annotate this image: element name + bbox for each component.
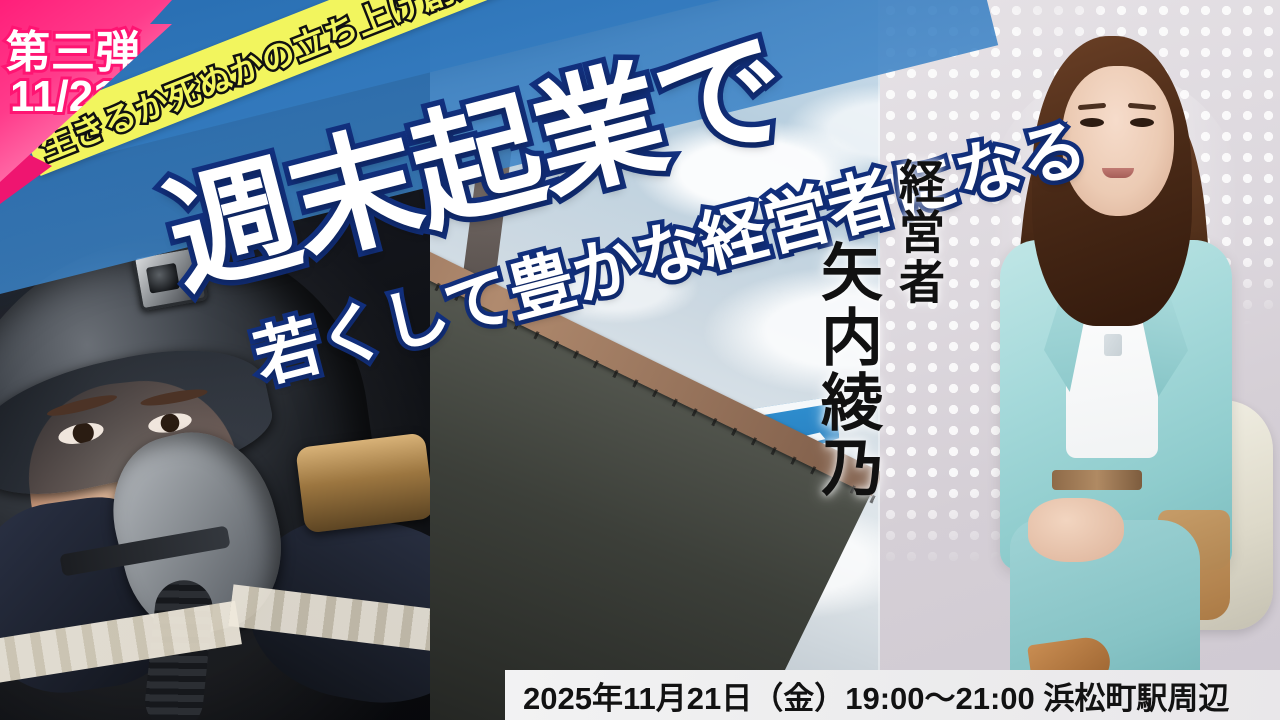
clasped-hands (1028, 498, 1124, 562)
eye-left (1080, 118, 1104, 127)
photo-seated-woman-portrait (880, 0, 1280, 720)
belt (1052, 470, 1142, 490)
mouth (1102, 168, 1134, 178)
event-datetime-location-text: 2025年11月21日（金）19:00〜21:00 浜松町駅周辺 (505, 673, 1229, 718)
speaker-name-label: 矢内綾乃 (800, 240, 890, 500)
event-info-bar: 2025年11月21日（金）19:00〜21:00 浜松町駅周辺 (505, 670, 1280, 720)
event-banner: 生きるか死ぬかの立ち上げ創業期！ 週末起業で 若くして豊かな経営者になる 経営者… (0, 0, 1280, 720)
speaker-role-label: 経営者 (886, 158, 952, 308)
eye-right (1130, 118, 1154, 127)
cockpit-brass-fitting (295, 432, 435, 533)
